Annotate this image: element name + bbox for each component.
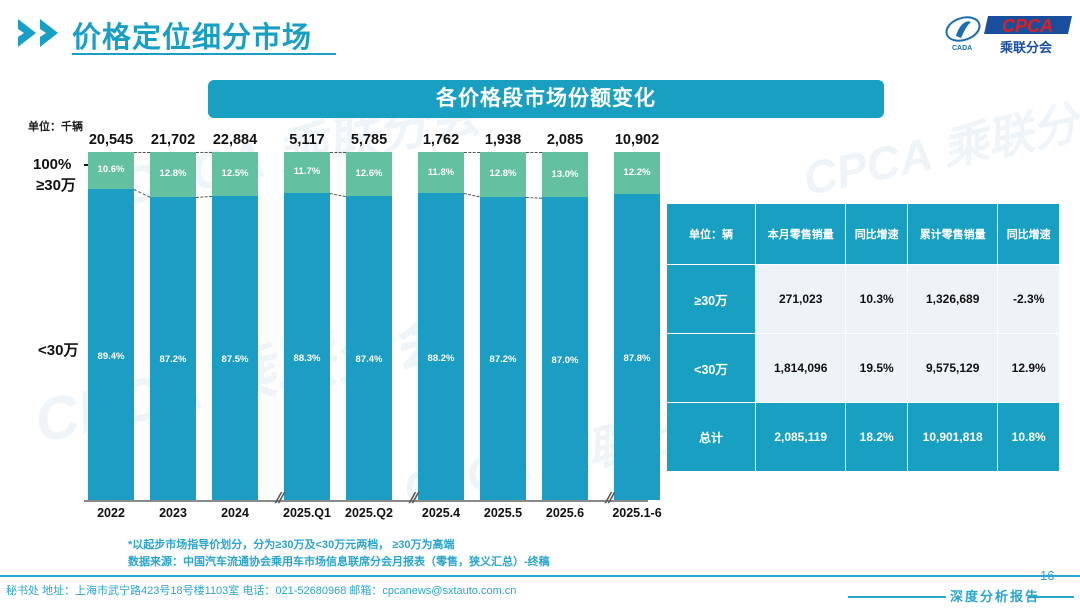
bar-segment-high: 12.8%	[150, 152, 196, 197]
x-axis-label: 2023	[140, 506, 206, 520]
chart-bar-group: 10,90212.2%87.8%	[614, 152, 660, 500]
bar-total-label: 5,785	[340, 132, 398, 148]
bar-segment-low-label: 87.2%	[480, 354, 526, 365]
table-header-cell: 单位：辆	[667, 204, 756, 265]
chart-bar-group: 1,76211.8%88.2%	[418, 152, 464, 500]
bar-segment-low: 87.4%	[346, 196, 392, 500]
x-axis-label: 2025.1-6	[604, 506, 670, 520]
chart-bar-group: 5,78512.6%87.4%	[346, 152, 392, 500]
chart-baseline	[84, 500, 648, 502]
chart-bar-group: 2,08513.0%87.0%	[542, 152, 588, 500]
bar-segment-high-label: 12.5%	[212, 168, 258, 179]
bar-segment-low: 88.2%	[418, 193, 464, 500]
bar-total-label: 20,545	[82, 132, 140, 148]
table-cell: -2.3%	[998, 265, 1060, 334]
x-axis-label: 2025.5	[470, 506, 536, 520]
bar-segment-high-label: 12.2%	[614, 167, 660, 178]
bar-total-label: 21,702	[144, 132, 202, 148]
section-banner-title: 各价格段市场份额变化	[208, 80, 884, 118]
bar-segment-low: 87.8%	[614, 194, 660, 500]
bar-segment-low-label: 87.4%	[346, 354, 392, 365]
x-axis-label: 2024	[202, 506, 268, 520]
logo-main-text: CPCA	[1002, 16, 1053, 36]
chart-bar-group: 22,88412.5%87.5%	[212, 152, 258, 500]
x-axis-label: 2025.Q2	[336, 506, 402, 520]
table-cell: 10,901,818	[907, 403, 997, 472]
bar-segment-low: 87.0%	[542, 197, 588, 500]
bar-segment-high: 12.2%	[614, 152, 660, 194]
connector-line-top	[464, 152, 480, 153]
table-header-row: 单位：辆本月零售销量同比增速累计零售销量同比增速	[667, 204, 1060, 265]
chart-bar-group: 1,93812.8%87.2%	[480, 152, 526, 500]
cpca-logo: CADA CPCA 乘联分会	[944, 10, 1072, 56]
table-cell: 2,085,119	[756, 403, 846, 472]
bar-segment-low-label: 89.4%	[88, 351, 134, 362]
chart-bar-group: 20,54510.6%89.4%	[88, 152, 134, 500]
logo-sub-text: 乘联分会	[999, 40, 1053, 55]
bar-segment-high-label: 11.7%	[284, 166, 330, 177]
bar-segment-low: 87.5%	[212, 196, 258, 501]
connector-line-split	[134, 189, 150, 198]
series-label-high: ≥30万	[36, 174, 76, 195]
table-cell: 12.9%	[998, 334, 1060, 403]
bar-segment-low-label: 88.2%	[418, 353, 464, 364]
x-axis-label: 2025.4	[408, 506, 474, 520]
bar-segment-high: 12.5%	[212, 152, 258, 196]
table-row: <30万1,814,09619.5%9,575,12912.9%	[667, 334, 1060, 403]
table-header-cell: 累计零售销量	[907, 204, 997, 265]
bar-total-label: 1,762	[412, 132, 470, 148]
table-cell: 1,326,689	[907, 265, 997, 334]
svg-text:CADA: CADA	[952, 45, 972, 52]
series-label-low: <30万	[38, 339, 78, 360]
table-row-label: 总计	[667, 403, 756, 472]
table-row: 总计2,085,11918.2%10,901,81810.8%	[667, 403, 1060, 472]
bar-segment-low: 88.3%	[284, 193, 330, 500]
bar-segment-high: 11.7%	[284, 152, 330, 193]
chart-plot-area: 20,54510.6%89.4%21,70212.8%87.2%22,88412…	[88, 152, 644, 500]
chart-bar-group: 5,11711.7%88.3%	[284, 152, 330, 500]
title-underline	[72, 53, 336, 55]
connector-line-split	[526, 197, 542, 199]
x-axis-label: 2025.6	[532, 506, 598, 520]
table-cell: 271,023	[756, 265, 846, 334]
bar-segment-low-label: 87.8%	[614, 353, 660, 364]
connector-line-split	[464, 193, 480, 197]
bar-segment-low-label: 87.0%	[542, 355, 588, 366]
bar-segment-low: 87.2%	[150, 197, 196, 500]
table-cell: 10.8%	[998, 403, 1060, 472]
bar-segment-low-label: 88.3%	[284, 353, 330, 364]
table-row: ≥30万271,02310.3%1,326,689-2.3%	[667, 265, 1060, 334]
bar-segment-high-label: 12.8%	[480, 168, 526, 179]
bar-segment-low-label: 87.2%	[150, 354, 196, 365]
footer-rule-left	[848, 596, 946, 598]
connector-line-split	[196, 195, 212, 197]
footer-divider	[0, 575, 1080, 577]
connector-line-top	[196, 152, 212, 153]
bar-segment-low: 87.2%	[480, 197, 526, 500]
bar-segment-high: 12.6%	[346, 152, 392, 196]
bar-segment-high: 12.8%	[480, 152, 526, 197]
table-row-label: ≥30万	[667, 265, 756, 334]
bar-total-label: 5,117	[278, 132, 336, 148]
bar-segment-high-label: 11.8%	[418, 167, 464, 178]
connector-line-top	[134, 152, 150, 153]
footer-brand: 深度分析报告	[950, 586, 1040, 605]
axis-100-label: 100%	[33, 156, 71, 173]
bar-segment-high-label: 12.6%	[346, 168, 392, 179]
bar-segment-high-label: 10.6%	[88, 164, 134, 175]
x-axis-label: 2022	[78, 506, 144, 520]
summary-table: 单位：辆本月零售销量同比增速累计零售销量同比增速 ≥30万271,02310.3…	[666, 203, 1060, 472]
table-header-cell: 同比增速	[846, 204, 908, 265]
table-row-label: <30万	[667, 334, 756, 403]
table-cell: 9,575,129	[907, 334, 997, 403]
bar-total-label: 10,902	[608, 132, 666, 148]
table-cell: 1,814,096	[756, 334, 846, 403]
table-cell: 18.2%	[846, 403, 908, 472]
table-cell: 10.3%	[846, 265, 908, 334]
connector-line-split	[330, 193, 346, 197]
page-title: 价格定位细分市场	[72, 14, 312, 56]
bar-segment-low: 89.4%	[88, 189, 134, 500]
chart-unit-label: 单位：千辆	[28, 118, 83, 134]
connector-line-top	[330, 152, 346, 153]
footer-contact: 秘书处 地址：上海市武宁路423号18号楼1103室 电话：021-526809…	[6, 582, 516, 598]
double-chevron-right-icon	[16, 17, 74, 49]
table-header-cell: 同比增速	[998, 204, 1060, 265]
footnote-2: 数据来源：中国汽车流通协会乘用车市场信息联席分会月报表（零售，狭义汇总）-终稿	[128, 553, 550, 569]
table-body: ≥30万271,02310.3%1,326,689-2.3%<30万1,814,…	[667, 265, 1060, 472]
bar-segment-high-label: 12.8%	[150, 168, 196, 179]
connector-line-top	[526, 152, 542, 153]
page-header: 价格定位细分市场 CADA CPCA 乘联分会	[0, 0, 1080, 62]
bar-segment-high: 10.6%	[88, 152, 134, 189]
page-number: 16	[1040, 568, 1054, 583]
bar-total-label: 22,884	[206, 132, 264, 148]
x-axis-label: 2025.Q1	[274, 506, 340, 520]
bar-segment-low-label: 87.5%	[212, 354, 258, 365]
table-header-cell: 本月零售销量	[756, 204, 846, 265]
stacked-bar-chart: 100% ≥30万 <30万 20,54510.6%89.4%21,70212.…	[0, 130, 660, 530]
bar-segment-high: 13.0%	[542, 152, 588, 197]
chart-bar-group: 21,70212.8%87.2%	[150, 152, 196, 500]
bar-total-label: 2,085	[536, 132, 594, 148]
bar-total-label: 1,938	[474, 132, 532, 148]
table-cell: 19.5%	[846, 334, 908, 403]
bar-segment-high: 11.8%	[418, 152, 464, 193]
section-banner: 各价格段市场份额变化	[208, 80, 884, 118]
footnote-1: *以起步市场指导价划分，分为≥30万及<30万元两档， ≥30万为高端	[128, 536, 455, 552]
bar-segment-high-label: 13.0%	[542, 169, 588, 180]
